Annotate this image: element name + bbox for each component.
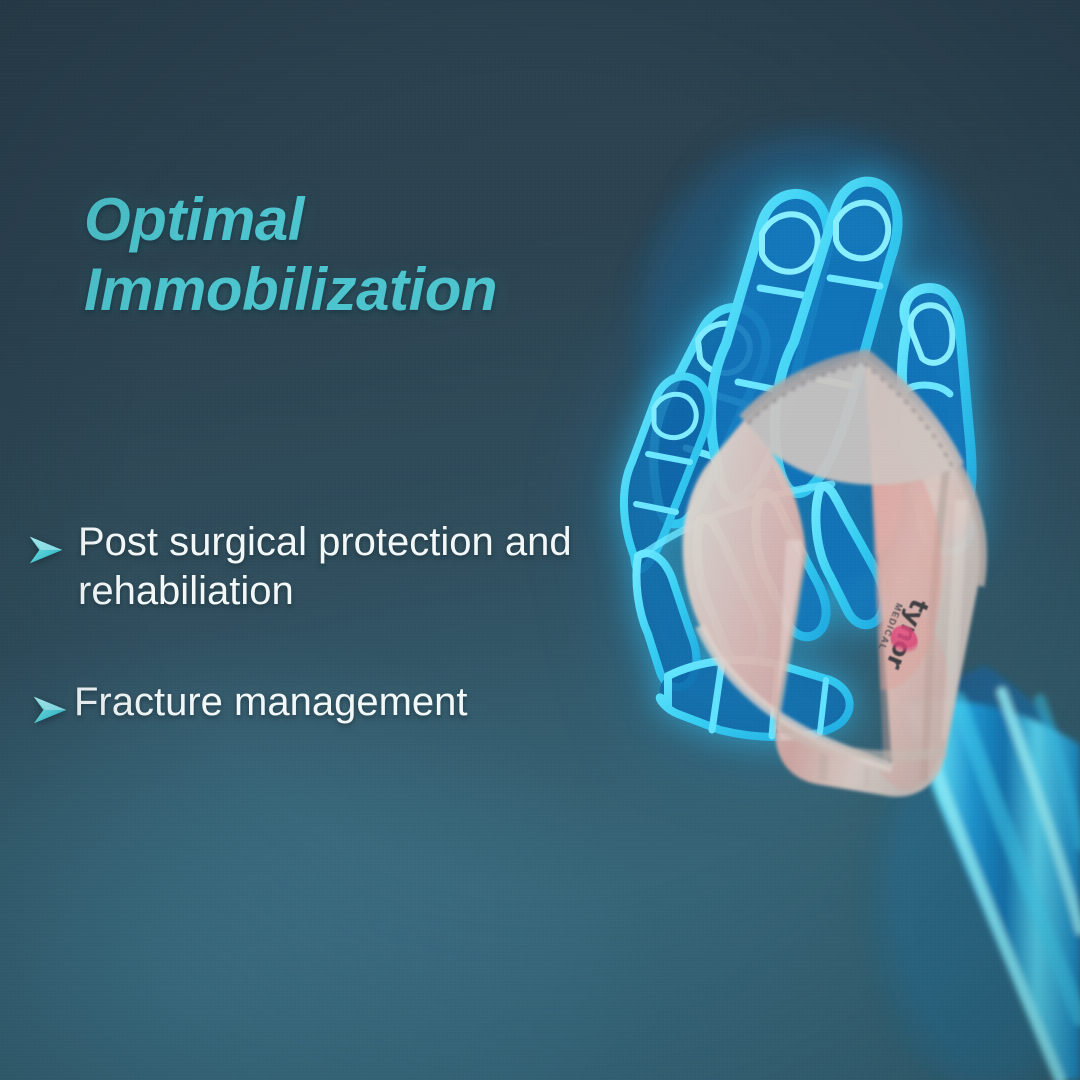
double-chevron-arrow-icon xyxy=(24,527,70,573)
page-title: Optimal Immobilization xyxy=(84,185,497,324)
splint-body xyxy=(683,356,983,797)
list-item: Post surgical protection and rehabiliati… xyxy=(24,518,714,616)
feature-list: Post surgical protection and rehabiliati… xyxy=(24,518,714,733)
slide-canvas: tynor MEDICAL Optimal Immobilization Pos… xyxy=(0,0,1080,1080)
list-item: Fracture management xyxy=(28,678,714,733)
headline-line-2: Immobilization xyxy=(84,255,497,325)
double-chevron-arrow-icon xyxy=(28,687,74,733)
headline-line-1: Optimal xyxy=(84,186,304,253)
list-item-label: Fracture management xyxy=(74,678,468,727)
list-item-label: Post surgical protection and rehabiliati… xyxy=(78,518,714,616)
